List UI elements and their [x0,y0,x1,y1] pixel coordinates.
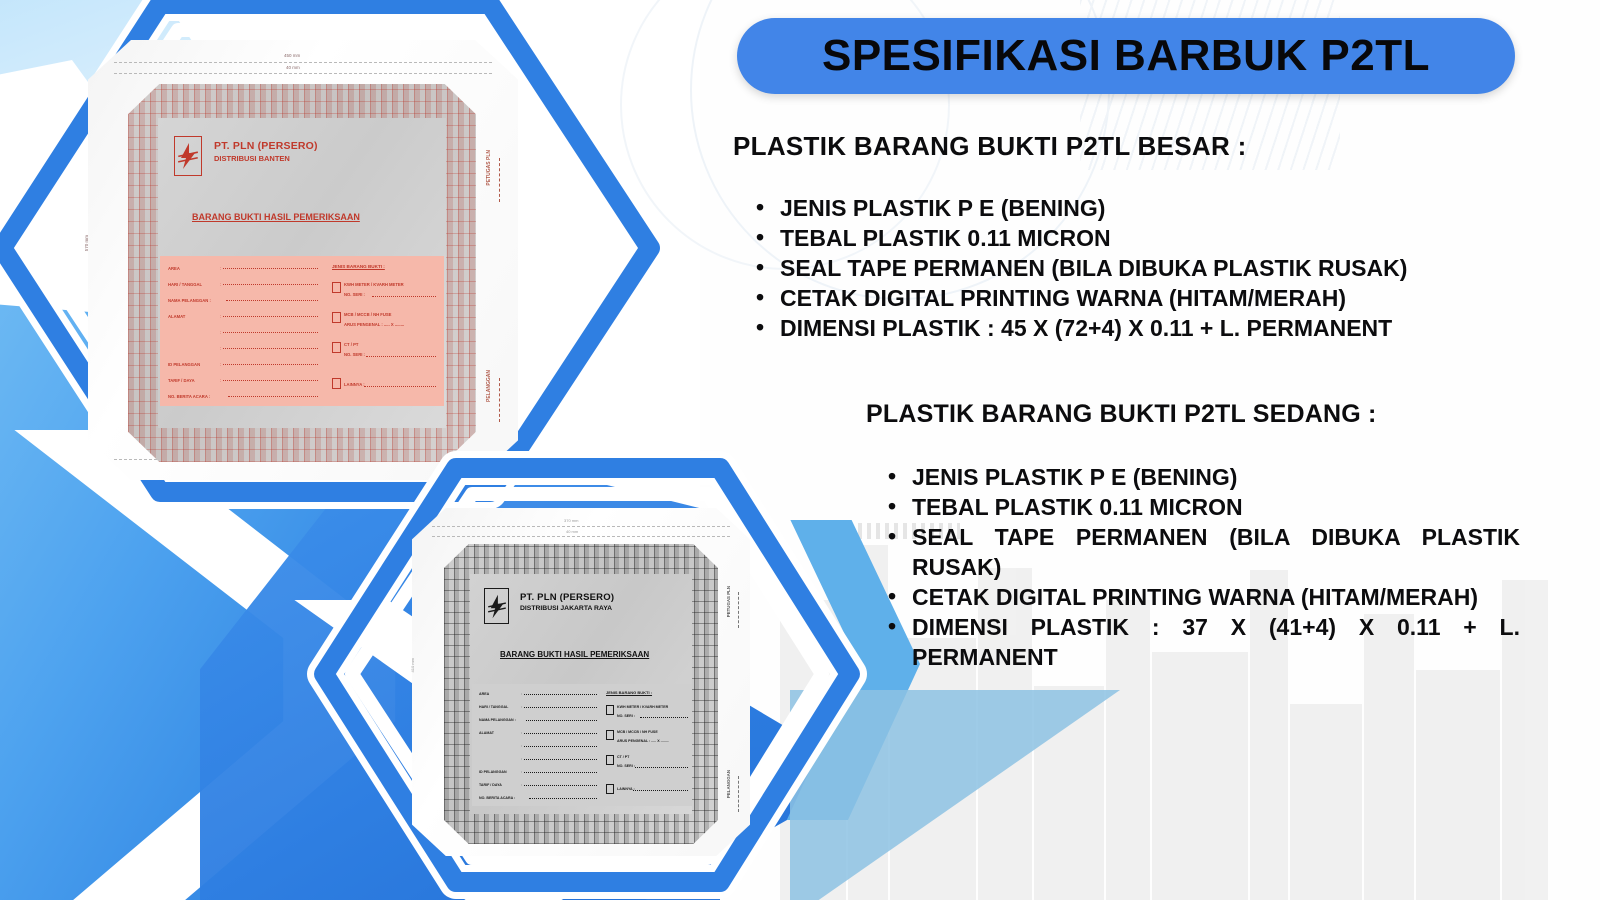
page-title: SPESIFIKASI BARBUK P2TL [822,31,1430,81]
dot-line [524,707,597,708]
bag-medium-field-area: AREA : [479,692,597,696]
dot-line [524,772,597,773]
bag-medium-field-date: HARI / TANGGAL : [479,705,597,709]
dot-line [226,300,318,301]
list-item: TEBAL PLASTIK 0.11 MICRON [880,492,1520,522]
dot-line [223,364,318,365]
bag-medium-division-name: DISTRIBUSI JAKARTA RAYA [520,605,612,612]
list-item: CETAK DIGITAL PRINTING WARNA (HITAM/MERA… [748,283,1548,313]
dot-line [228,396,318,397]
bag-medium-dim-flap: 40 mm [566,529,578,534]
dot-line [526,720,597,721]
list-item: SEAL TAPE PERMANEN (BILA DIBUKA PLASTIK … [748,253,1548,283]
section-besar-list: JENIS PLASTIK P E (BENING) TEBAL PLASTIK… [748,193,1548,343]
bag-large-evidence-sub-1: ARUS PENGENAL : ..... X ........ [344,322,404,327]
bag-large-form-panel: AREA : HARI / TANGGAL : NAMA PELANGGAN :… [160,256,444,406]
bag-large-dim-flap: 40 mm [286,65,300,70]
dot-line [524,759,597,760]
list-item: TEBAL PLASTIK 0.11 MICRON [748,223,1548,253]
pln-lightning-icon [177,141,199,171]
title-banner: SPESIFIKASI BARBUK P2TL [737,18,1515,94]
bag-large-dashline-top-1 [114,62,492,63]
bag-large-printed-body: PT. PLN (PERSERO) DISTRIBUSI BANTEN BARA… [128,84,476,462]
dot-line [524,785,597,786]
section-sedang-heading: PLASTIK BARANG BUKTI P2TL SEDANG : [866,400,1377,429]
list-item: JENIS PLASTIK P E (BENING) [880,462,1520,492]
dot-line [223,332,318,333]
bag-large-checkbox-mcb[interactable] [332,312,341,323]
dot-line [223,268,318,269]
bag-large-division-name: DISTRIBUSI BANTEN [214,154,290,163]
bag-medium-company-name: PT. PLN (PERSERO) [520,592,614,603]
bag-large-checkbox-ctpt[interactable] [332,342,341,353]
bag-medium-evidence-sub-0: NO. SERI : [617,714,635,718]
dot-line [524,733,597,734]
bag-medium-field-address-2: : [521,744,597,748]
bag-large-side-label-petugas: PETUGAS PLN [486,150,492,186]
pln-lightning-icon [487,593,507,620]
bag-medium-dim-arrow-1 [738,592,739,628]
section-sedang-list: JENIS PLASTIK P E (BENING) TEBAL PLASTIK… [880,462,1520,672]
bag-large-field-tariff: TARIF / DAYA : [168,378,318,383]
bag-large-doc-heading: BARANG BUKTI HASIL PEMERIKSAAN [192,212,360,222]
bag-large-evidence-label-0: KWH METER / KVARH METER [344,282,404,287]
dot-line [640,717,688,718]
bag-medium-evidence-sub-1: ARUS PENGENAL : ..... X ........ [617,739,669,743]
bag-large-company-name: PT. PLN (PERSERO) [214,140,318,152]
dot-line [524,694,597,695]
bag-medium-field-address-3: : [521,757,597,761]
bag-large-field-customer-id: ID PELANGGAN : [168,362,318,367]
bag-medium-checkbox-ctpt[interactable] [606,755,614,765]
plastic-bag-medium: 370 mm 40 mm 410 mm PT. PLN (PERSERO) DI… [412,508,750,856]
bag-large-evidence-sub-2: NO. SERI : [344,352,365,357]
bag-large-dim-height: 570 mm [84,235,89,251]
bag-medium-dashline-top-1 [432,526,729,527]
dot-line [223,380,318,381]
bag-medium-field-tariff: TARIF / DAYA : [479,783,597,787]
dot-line [524,746,597,747]
slide-canvas: 450 mm 40 mm 570 mm PT. PLN (PERSERO) DI… [0,0,1600,900]
bag-medium-dim-height: 410 mm [410,658,415,672]
bag-medium-dashline-top-2 [432,536,729,537]
bag-medium-field-customer-id: ID PELANGGAN : [479,770,597,774]
bag-medium-evidence-heading: JENIS BARANG BUKTI : [606,690,652,695]
bag-medium-evidence-label-0: KWH METER / KVARH METER [617,705,668,709]
bag-medium-checkbox-other[interactable] [606,784,614,794]
bag-large-dashline-top-2 [114,73,492,74]
bag-large-evidence-label-1: MCB / MCCB / NH FUSE [344,312,391,317]
bag-medium-side-label-petugas: PETUGAS PLN [726,586,731,617]
bag-medium-dim-width: 370 mm [564,518,578,523]
bag-large-evidence-sub-0: NO. SERI : [344,292,365,297]
bag-large-dim-arrow-2 [499,378,500,422]
bag-large-evidence-label-2: CT / PT [344,342,358,347]
dot-line [223,316,318,317]
list-item: DIMENSI PLASTIK : 45 X (72+4) X 0.11 + L… [748,313,1548,343]
bag-medium-field-customer: NAMA PELANGGAN : [479,718,597,722]
bag-large-evidence-heading: JENIS BARANG BUKTI : [332,264,385,269]
section-besar-heading: PLASTIK BARANG BUKTI P2TL BESAR : [733,131,1247,162]
bag-medium-evidence-label-1: MCB / MCCB / NH FUSE [617,730,658,734]
dot-line [366,356,436,357]
list-item: CETAK DIGITAL PRINTING WARNA (HITAM/MERA… [880,582,1520,612]
bag-large-field-address: ALAMAT : [168,314,318,319]
bag-medium-side-label-pelanggan: PELANGGAN [726,770,731,798]
dot-line [529,798,597,799]
bag-large-pln-logo-icon [174,136,202,176]
bag-medium-checkbox-mcb[interactable] [606,730,614,740]
bag-large-field-customer: NAMA PELANGGAN : [168,298,318,303]
dot-line [364,386,436,387]
dot-line [223,284,318,285]
bag-large-field-address-2: : [220,330,318,335]
bag-large-field-report-no: NO. BERITA ACARA : [168,394,318,399]
bag-medium-dim-arrow-2 [738,776,739,812]
list-item: DIMENSI PLASTIK : 37 X (41+4) X 0.11 + L… [880,612,1520,672]
bag-medium-pln-logo-icon [484,588,509,624]
bag-large-field-date: HARI / TANGGAL : [168,282,318,287]
dot-line [633,790,688,791]
list-item: SEAL TAPE PERMANEN (BILA DIBUKA PLASTIK … [880,522,1520,582]
bag-large-dim-width: 450 mm [284,53,300,58]
bag-medium-field-report-no: NO. BERITA ACARA : [479,796,597,800]
bag-medium-field-address: ALAMAT : [479,731,597,735]
bag-medium-checkbox-kwh[interactable] [606,705,614,715]
bag-large-field-address-3: : [220,346,318,351]
bag-medium-form-panel: AREA : HARI / TANGGAL : NAMA PELANGGAN :… [472,684,692,806]
bag-large-dim-arrow-1 [499,158,500,202]
bag-large-side-label-pelanggan: PELANGGAN [486,370,492,402]
dot-line [372,296,436,297]
dot-line [223,348,318,349]
list-item: JENIS PLASTIK P E (BENING) [748,193,1548,223]
bag-large-checkbox-other[interactable] [332,378,341,389]
bag-medium-printed-body: PT. PLN (PERSERO) DISTRIBUSI JAKARTA RAY… [444,544,718,844]
bag-large-evidence-label-3: LAINNYA : [344,382,365,387]
bag-medium-evidence-label-2: CT / PT [617,755,629,759]
plastic-bag-large: 450 mm 40 mm 570 mm PT. PLN (PERSERO) DI… [88,40,518,480]
bag-medium-doc-heading: BARANG BUKTI HASIL PEMERIKSAAN [500,650,649,659]
bag-medium-evidence-sub-2: NO. SERI : [617,764,635,768]
bag-large-checkbox-kwh[interactable] [332,282,341,293]
bag-large-field-area: AREA : [168,266,318,271]
dot-line [635,767,688,768]
